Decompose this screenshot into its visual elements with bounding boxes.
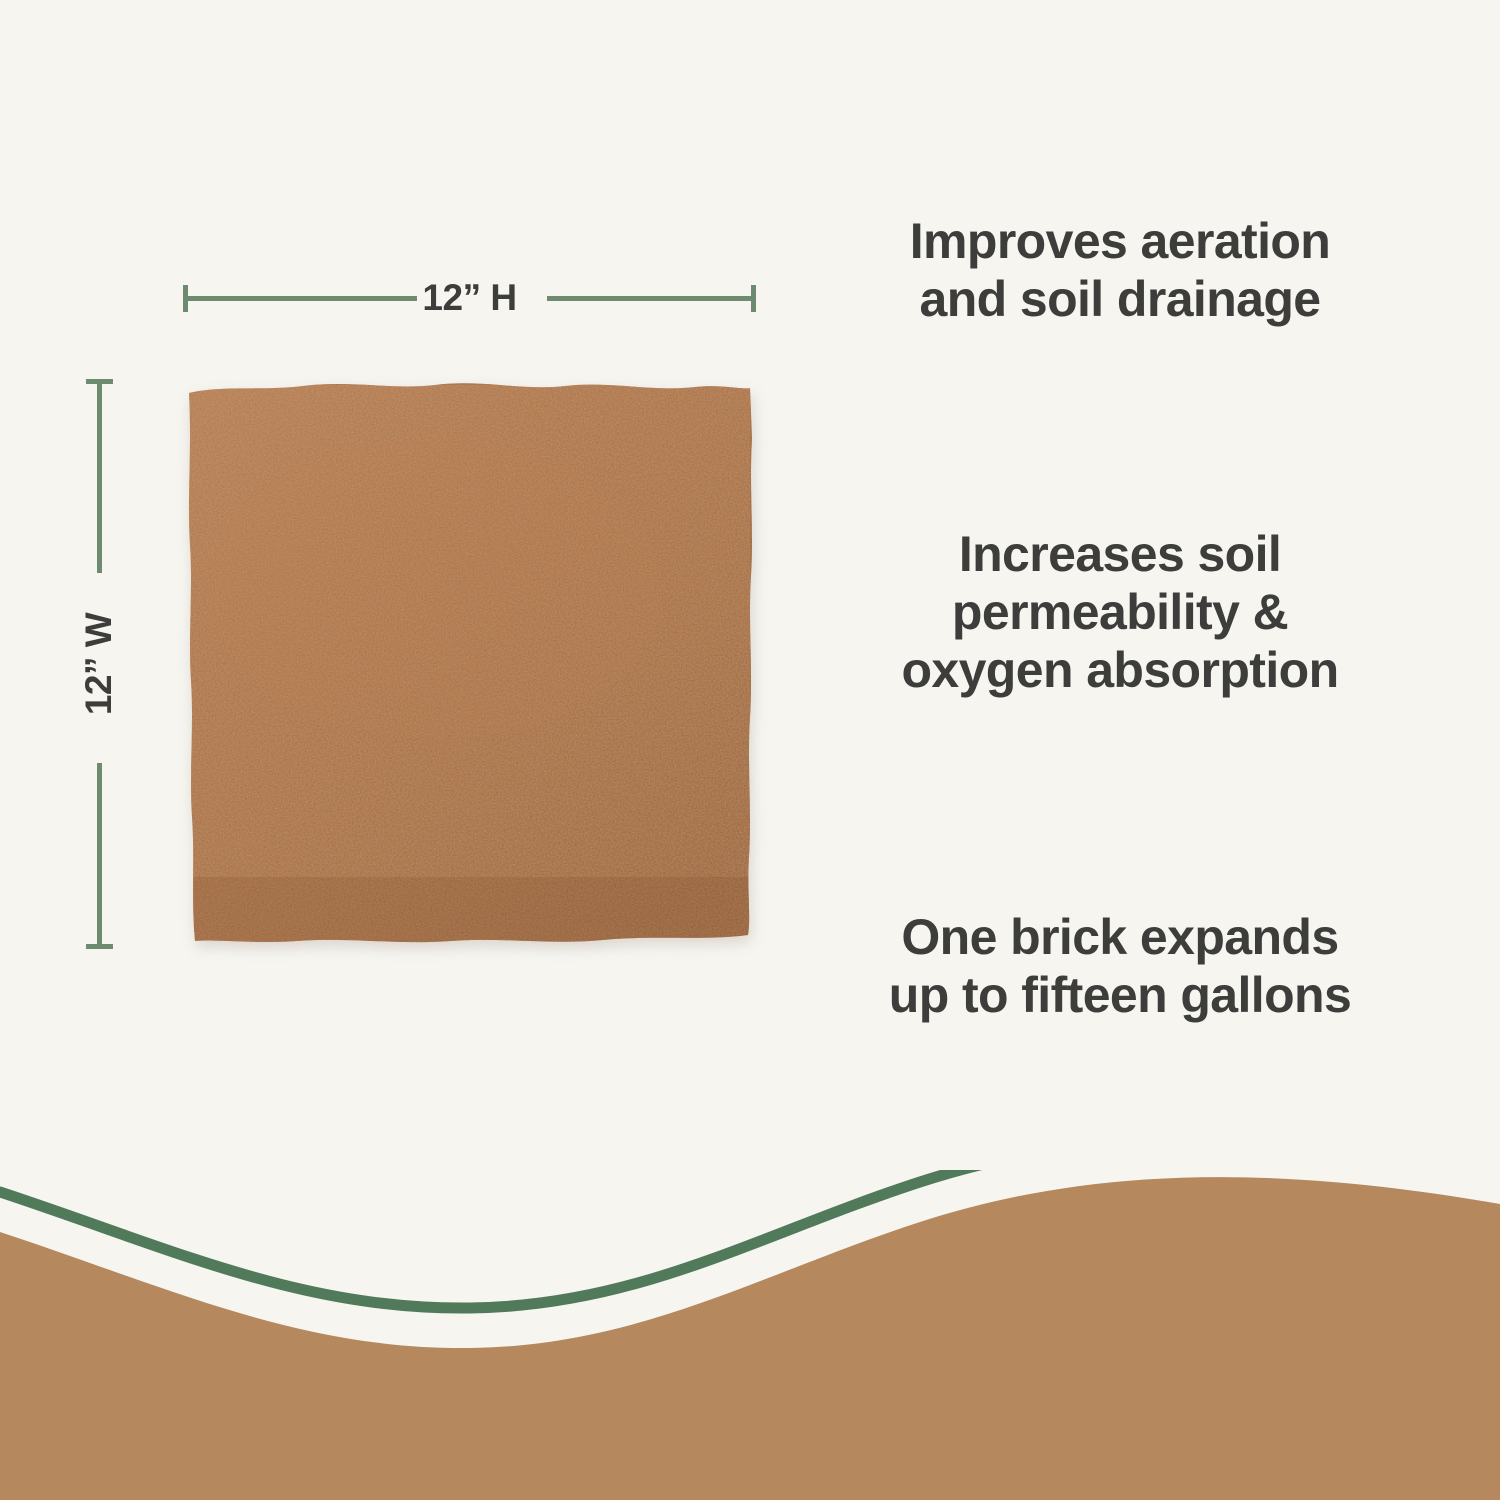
benefit-line: oxygen absorption bbox=[800, 641, 1440, 699]
benefit-line: Increases soil bbox=[800, 525, 1440, 583]
benefit-line: up to fifteen gallons bbox=[800, 966, 1440, 1024]
benefits-list: Improves aeration and soil drainage Incr… bbox=[800, 0, 1480, 1120]
dimension-rule-bottom bbox=[97, 763, 102, 945]
benefit-permeability: Increases soil permeability & oxygen abs… bbox=[800, 525, 1440, 699]
benefit-line: permeability & bbox=[800, 583, 1440, 641]
product-image-area: 12” H 12” W bbox=[0, 0, 800, 1080]
benefit-line: and soil drainage bbox=[800, 270, 1440, 328]
product-infographic: 12” H 12” W bbox=[0, 0, 1500, 1500]
dimension-rule-top bbox=[97, 383, 102, 573]
dimension-cap-bottom bbox=[86, 944, 113, 949]
decorative-wave bbox=[0, 1170, 1500, 1500]
dimension-vertical: 12” W bbox=[73, 379, 125, 949]
dimension-label-height: 12” H bbox=[183, 272, 756, 324]
benefit-line: One brick expands bbox=[800, 908, 1440, 966]
coir-brick-image bbox=[183, 379, 756, 949]
dimension-label-width: 12” W bbox=[78, 613, 120, 715]
benefit-line: Improves aeration bbox=[800, 212, 1440, 270]
benefit-expansion: One brick expands up to fifteen gallons bbox=[800, 908, 1440, 1024]
wave-fill-shape bbox=[0, 1177, 1500, 1500]
benefit-aeration: Improves aeration and soil drainage bbox=[800, 212, 1440, 328]
dimension-horizontal: 12” H bbox=[183, 272, 756, 324]
